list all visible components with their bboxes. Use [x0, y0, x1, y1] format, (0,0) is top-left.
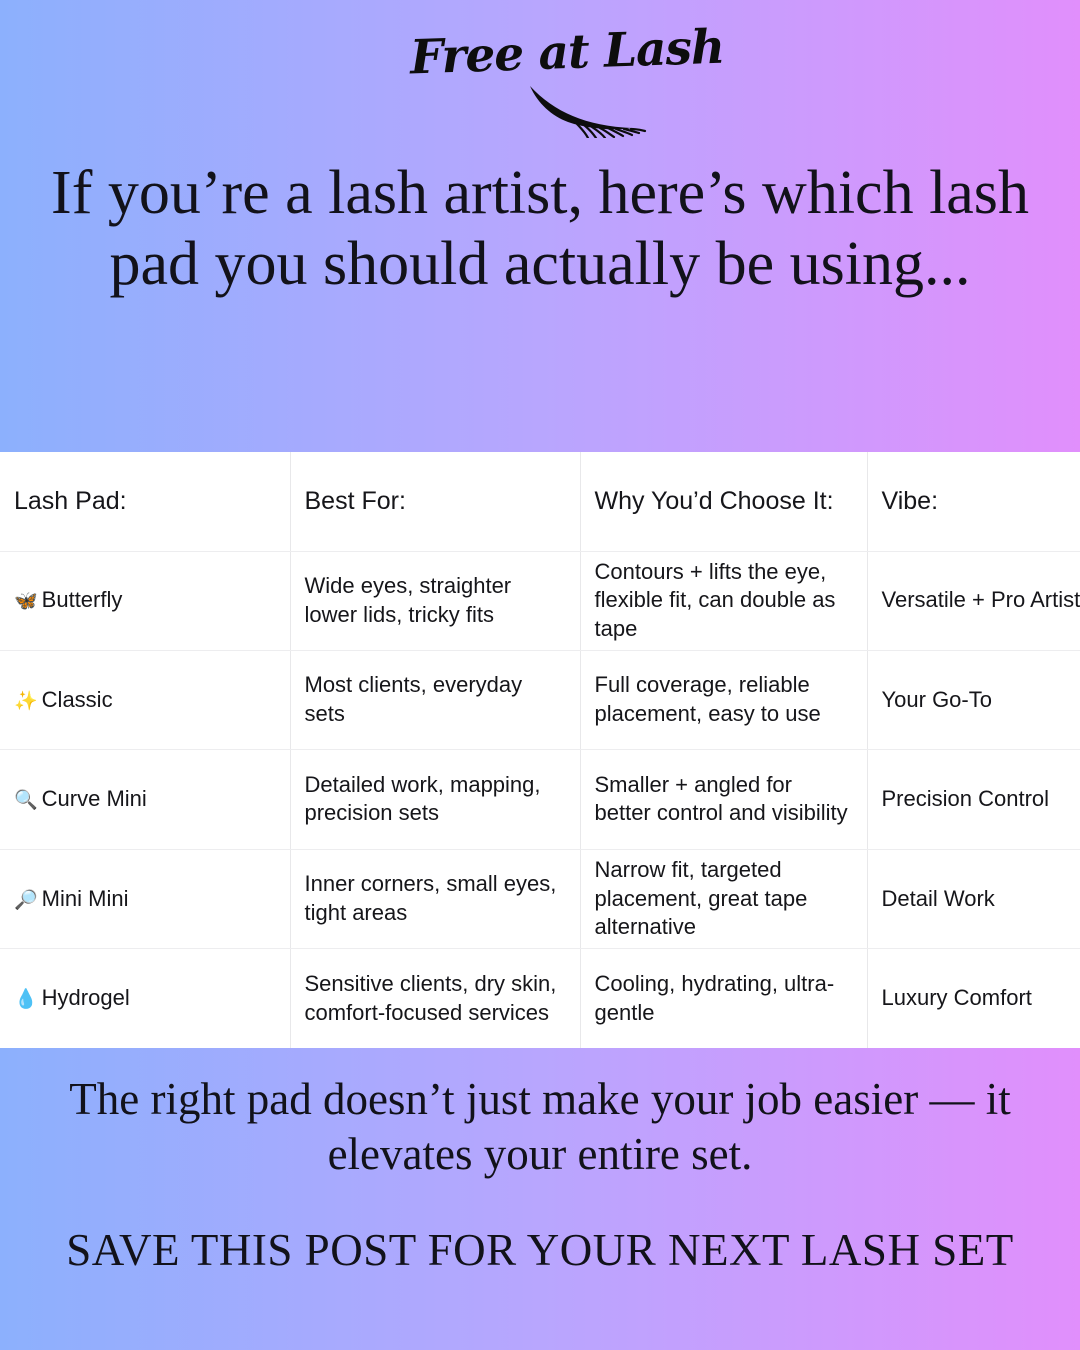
pad-name-cell: ✨Classic: [0, 650, 290, 749]
lash-pad-comparison-table: Lash Pad: Best For: Why You’d Choose It:…: [0, 452, 1080, 1048]
footer-tagline: The right pad doesn’t just make your job…: [0, 1048, 1080, 1182]
brand-logo-text: Free at Lash: [409, 21, 671, 85]
table-row: 🔎Mini Mini Inner corners, small eyes, ti…: [0, 849, 1080, 948]
table-row: 🔍Curve Mini Detailed work, mapping, prec…: [0, 750, 1080, 849]
best-for-cell: Detailed work, mapping, precision sets: [290, 750, 580, 849]
brand-logo: Free at Lash: [0, 0, 1080, 150]
pad-name-label: Classic: [42, 687, 113, 712]
best-for-cell: Wide eyes, straighter lower lids, tricky…: [290, 551, 580, 650]
vibe-cell: Detail Work: [867, 849, 1080, 948]
column-header-why: Why You’d Choose It:: [580, 452, 867, 551]
magnifier-left-icon: 🔍: [14, 789, 38, 811]
column-header-lash-pad: Lash Pad:: [0, 452, 290, 551]
why-cell: Full coverage, reliable placement, easy …: [580, 650, 867, 749]
page-headline: If you’re a lash artist, here’s which la…: [0, 150, 1080, 299]
pad-name-label: Mini Mini: [42, 886, 129, 911]
vibe-cell: Luxury Comfort: [867, 949, 1080, 1048]
sparkles-icon: ✨: [14, 690, 38, 712]
pad-name-cell: 🦋Butterfly: [0, 551, 290, 650]
pad-name-cell: 💧Hydrogel: [0, 949, 290, 1048]
why-cell: Narrow fit, targeted placement, great ta…: [580, 849, 867, 948]
droplet-icon: 💧: [14, 988, 38, 1010]
pad-name-cell: 🔎Mini Mini: [0, 849, 290, 948]
table-row: ✨Classic Most clients, everyday sets Ful…: [0, 650, 1080, 749]
why-cell: Smaller + angled for better control and …: [580, 750, 867, 849]
best-for-cell: Inner corners, small eyes, tight areas: [290, 849, 580, 948]
best-for-cell: Sensitive clients, dry skin, comfort-foc…: [290, 949, 580, 1048]
pad-name-label: Hydrogel: [42, 985, 130, 1010]
vibe-cell: Precision Control: [867, 750, 1080, 849]
pad-name-cell: 🔍Curve Mini: [0, 750, 290, 849]
column-header-vibe: Vibe:: [867, 452, 1080, 551]
pad-name-label: Curve Mini: [42, 786, 147, 811]
footer-section: The right pad doesn’t just make your job…: [0, 1048, 1080, 1350]
column-header-best-for: Best For:: [290, 452, 580, 551]
why-cell: Contours + lifts the eye, flexible fit, …: [580, 551, 867, 650]
why-cell: Cooling, hydrating, ultra-gentle: [580, 949, 867, 1048]
vibe-cell: Your Go-To: [867, 650, 1080, 749]
pad-name-label: Butterfly: [42, 587, 123, 612]
best-for-cell: Most clients, everyday sets: [290, 650, 580, 749]
comparison-table-container: Lash Pad: Best For: Why You’d Choose It:…: [0, 452, 1080, 1048]
call-to-action-text: SAVE THIS POST FOR YOUR NEXT LASH SET: [66, 1224, 1013, 1276]
table-row: 💧Hydrogel Sensitive clients, dry skin, c…: [0, 949, 1080, 1048]
butterfly-icon: 🦋: [14, 590, 38, 612]
vibe-cell: Versatile + Pro Artist Favorite: [867, 551, 1080, 650]
table-header-row: Lash Pad: Best For: Why You’d Choose It:…: [0, 452, 1080, 551]
table-row: 🦋Butterfly Wide eyes, straighter lower l…: [0, 551, 1080, 650]
magnifier-right-icon: 🔎: [14, 889, 38, 911]
eyelash-icon: [528, 82, 648, 143]
